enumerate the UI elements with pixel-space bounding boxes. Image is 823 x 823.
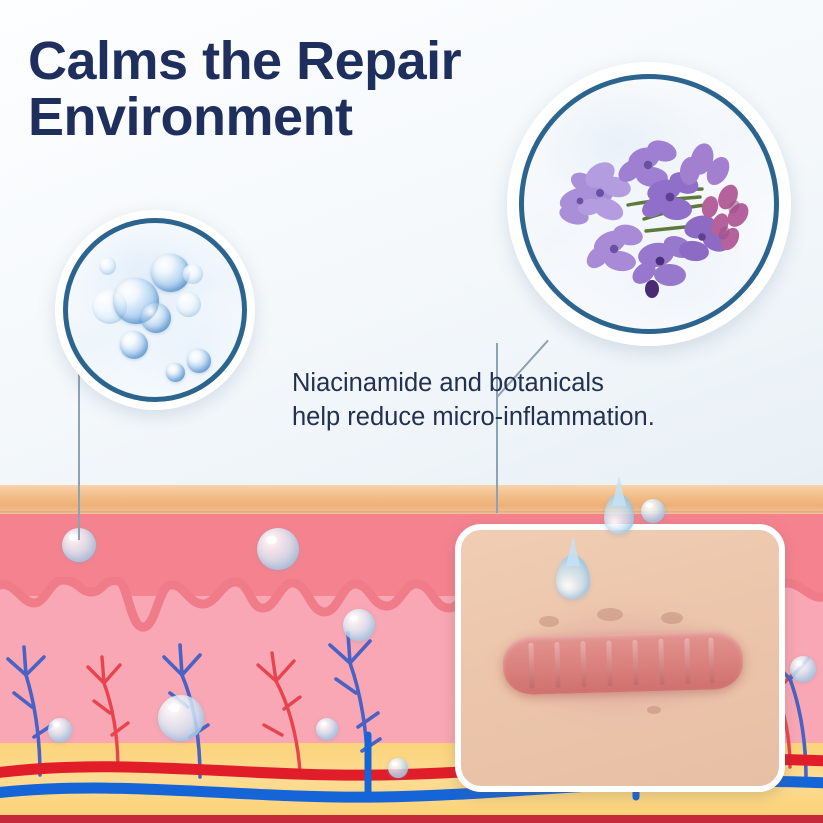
hydration-bubble (790, 656, 816, 682)
hydration-bubble (316, 718, 338, 740)
leader-line-bubbles (78, 365, 80, 540)
hydration-bubble (48, 718, 72, 742)
hydration-bubble (257, 528, 299, 570)
caption-line-2: help reduce micro-inflammation. (292, 401, 762, 435)
inset-ring (519, 74, 779, 334)
hydration-bubble (388, 758, 408, 778)
hydration-bubble (343, 609, 375, 641)
hydration-bubble (641, 499, 665, 523)
caption-line-1: Niacinamide and botanicals (292, 367, 762, 401)
headline-line-2: Environment (28, 90, 558, 146)
skin-mark (597, 608, 623, 621)
hydration-bubbles-inset[interactable] (55, 210, 255, 410)
infographic-canvas: Calms the Repair Environment Niacinamide… (0, 0, 823, 823)
benefit-caption: Niacinamide and botanicals help reduce m… (292, 367, 762, 434)
scar-body (502, 631, 744, 696)
hydration-bubble (158, 695, 204, 741)
inset-ring (63, 218, 247, 402)
hypertrophic-scar-photo (455, 524, 785, 792)
skin-mark (647, 706, 661, 714)
bottom-accent-strip (0, 815, 823, 823)
skin-mark (661, 612, 683, 624)
page-title: Calms the Repair Environment (28, 34, 558, 145)
skin-mark (539, 616, 559, 627)
headline-line-1: Calms the Repair (28, 34, 558, 90)
